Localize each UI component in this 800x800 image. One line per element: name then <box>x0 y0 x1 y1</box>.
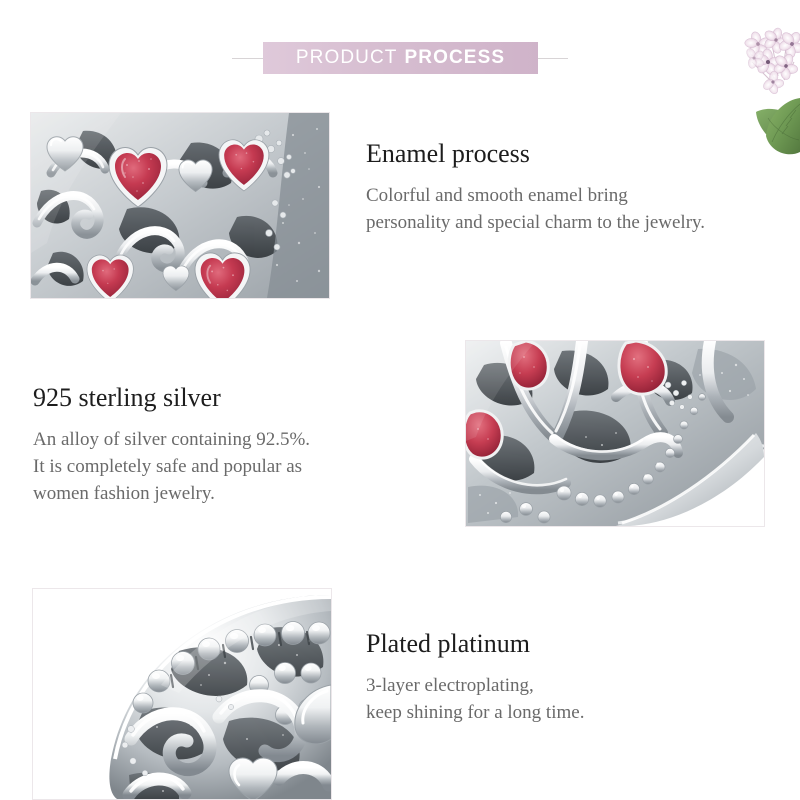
page-header: PRODUCT PROCESS <box>0 0 800 110</box>
desc-line: women fashion jewelry. <box>33 481 453 508</box>
feature-title-sterling-silver: 925 sterling silver <box>33 384 453 413</box>
desc-line: It is completely safe and popular as <box>33 454 453 481</box>
desc-line: 3-layer electroplating, <box>366 673 786 700</box>
enamel-feature-text: Enamel process Colorful and smooth ename… <box>366 140 786 237</box>
plated-platinum-feature-text: Plated platinum 3-layer electroplating, … <box>366 630 786 727</box>
plated-platinum-macro-photo <box>32 588 332 800</box>
feature-title-enamel: Enamel process <box>366 140 786 169</box>
page-title-secondary: PROCESS <box>405 47 506 69</box>
desc-line: personality and special charm to the jew… <box>366 210 786 237</box>
feature-description-plated-platinum: 3-layer electroplating, keep shining for… <box>366 673 786 727</box>
sterling-silver-macro-photo <box>465 340 765 527</box>
desc-line: Colorful and smooth enamel bring <box>366 183 786 210</box>
desc-line: An alloy of silver containing 92.5%. <box>33 427 453 454</box>
feature-title-plated-platinum: Plated platinum <box>366 630 786 659</box>
sterling-silver-feature-text: 925 sterling silver An alloy of silver c… <box>33 384 453 508</box>
page-title-banner: PRODUCT PROCESS <box>263 42 538 74</box>
feature-description-enamel: Colorful and smooth enamel bring persona… <box>366 183 786 237</box>
desc-line: keep shining for a long time. <box>366 700 786 727</box>
enamel-hearts-macro-photo <box>30 112 330 299</box>
page-title-primary: PRODUCT <box>296 47 398 69</box>
feature-description-sterling-silver: An alloy of silver containing 92.5%. It … <box>33 427 453 508</box>
